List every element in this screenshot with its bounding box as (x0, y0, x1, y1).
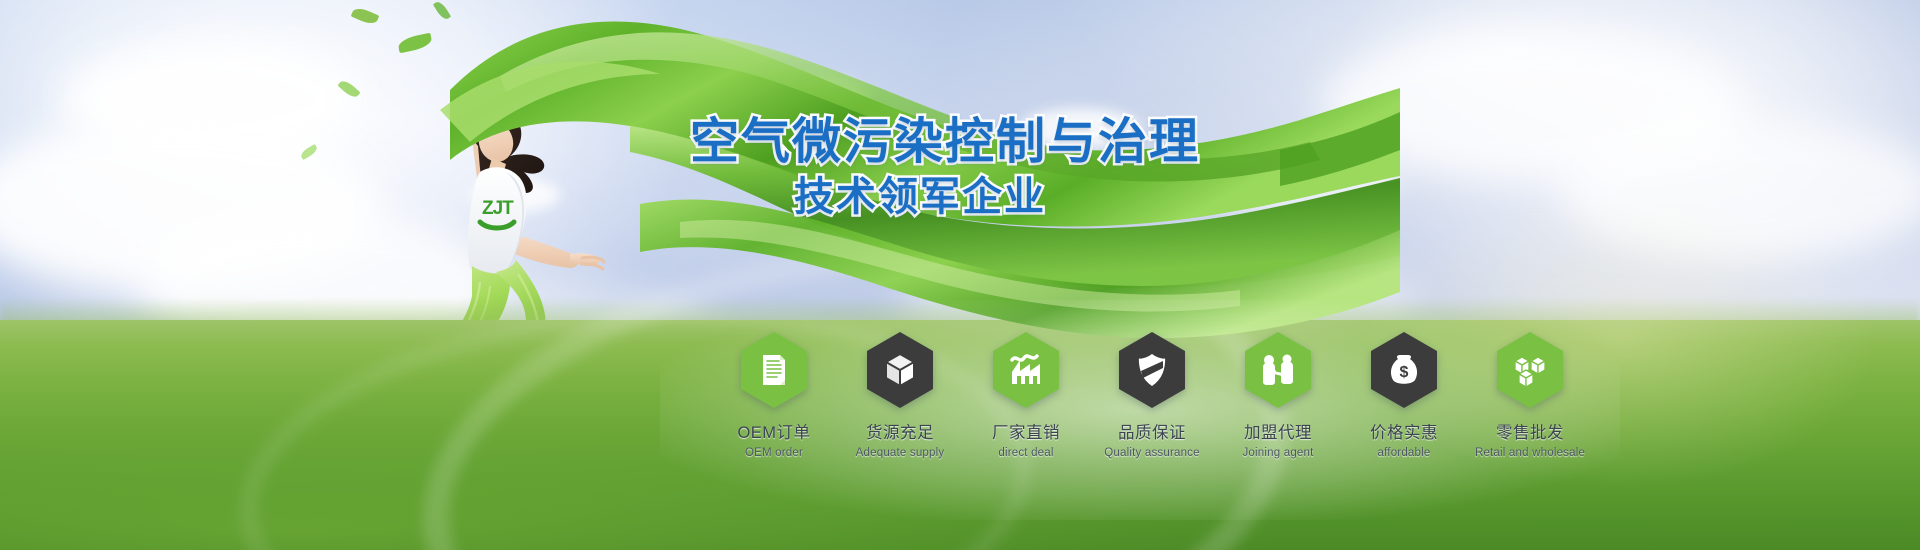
factory-icon-badge[interactable] (989, 330, 1063, 410)
feature-label-en: affordable (1378, 447, 1431, 459)
svg-text:$: $ (1400, 364, 1409, 381)
feature-label-cn: 加盟代理 (1244, 419, 1312, 443)
feature-item-packages[interactable]: 零售批发Retail and wholesale (1474, 330, 1586, 459)
feature-item-handshake[interactable]: 加盟代理Joining agent (1222, 330, 1334, 459)
handshake-icon-badge[interactable] (1241, 330, 1315, 410)
feature-label-en: Joining agent (1242, 447, 1313, 459)
feature-label-en: OEM order (745, 447, 803, 459)
document-icon (763, 355, 785, 385)
box-cube-icon-badge[interactable] (863, 330, 937, 410)
feature-label-en: Adequate supply (856, 447, 945, 459)
feature-label-cn: 品质保证 (1118, 419, 1186, 443)
shield-icon-badge[interactable] (1115, 330, 1189, 410)
headline-block: 空气微污染控制与治理 技术领军企业 (690, 118, 1250, 217)
feature-item-money-bag[interactable]: $价格实惠affordable (1348, 330, 1460, 459)
feature-item-box-cube[interactable]: 货源充足Adequate supply (844, 330, 956, 459)
feature-label-en: direct deal (998, 447, 1053, 459)
packages-icon-badge[interactable] (1493, 330, 1567, 410)
box-cube-icon (886, 354, 914, 386)
feature-item-document[interactable]: OEM订单OEM order (718, 330, 830, 459)
feature-item-shield[interactable]: 品质保证Quality assurance (1096, 330, 1208, 459)
feature-list: OEM订单OEM order 货源充足Adequate supply 厂家直销d… (718, 330, 1586, 459)
money-bag-icon-badge[interactable]: $ (1367, 330, 1441, 410)
feature-label-en: Quality assurance (1104, 447, 1199, 459)
promo-banner: ZJT 空气微污染控制与治理 技术领军企业 (0, 0, 1920, 550)
headline-line-2: 技术领军企业 (794, 177, 1250, 217)
feature-label-en: Retail and wholesale (1475, 447, 1585, 459)
headline-line-1: 空气微污染控制与治理 (690, 118, 1250, 167)
feature-item-factory[interactable]: 厂家直销direct deal (970, 330, 1082, 459)
feature-label-cn: 厂家直销 (992, 419, 1060, 443)
feature-label-cn: 价格实惠 (1370, 419, 1438, 443)
feature-label-cn: OEM订单 (737, 419, 810, 443)
feature-label-cn: 货源充足 (866, 419, 934, 443)
feature-label-cn: 零售批发 (1496, 419, 1564, 443)
document-icon-badge[interactable] (737, 330, 811, 410)
